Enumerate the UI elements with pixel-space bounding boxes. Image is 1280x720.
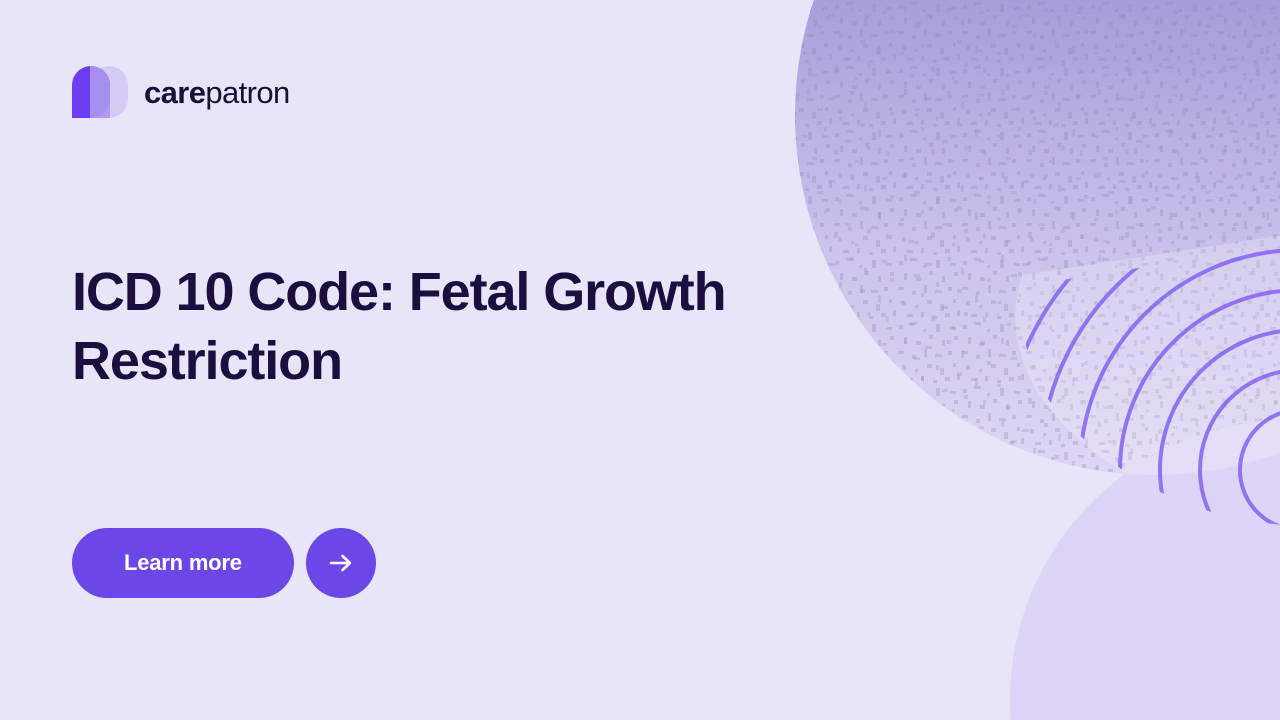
arrow-forward-button[interactable] bbox=[306, 528, 376, 598]
logo-blob-overlap bbox=[90, 66, 110, 118]
wordmark-patron: patron bbox=[205, 75, 289, 110]
page-title: ICD 10 Code: Fetal Growth Restriction bbox=[72, 258, 772, 396]
dotted-gradient-circle bbox=[790, 0, 1280, 480]
arrow-right-icon bbox=[324, 546, 358, 580]
banner-canvas: carepatron ICD 10 Code: Fetal Growth Res… bbox=[0, 0, 1280, 720]
concentric-arc-rings bbox=[960, 130, 1280, 720]
learn-more-button[interactable]: Learn more bbox=[72, 528, 294, 598]
carepatron-logo-mark-icon bbox=[72, 66, 128, 118]
wordmark-care: care bbox=[144, 75, 205, 110]
brand-logo[interactable]: carepatron bbox=[72, 66, 290, 118]
ring-wedge-overlay bbox=[1015, 235, 1280, 520]
cta-group: Learn more bbox=[72, 528, 376, 598]
soft-lavender-circle bbox=[1010, 420, 1280, 720]
brand-wordmark: carepatron bbox=[144, 77, 290, 108]
